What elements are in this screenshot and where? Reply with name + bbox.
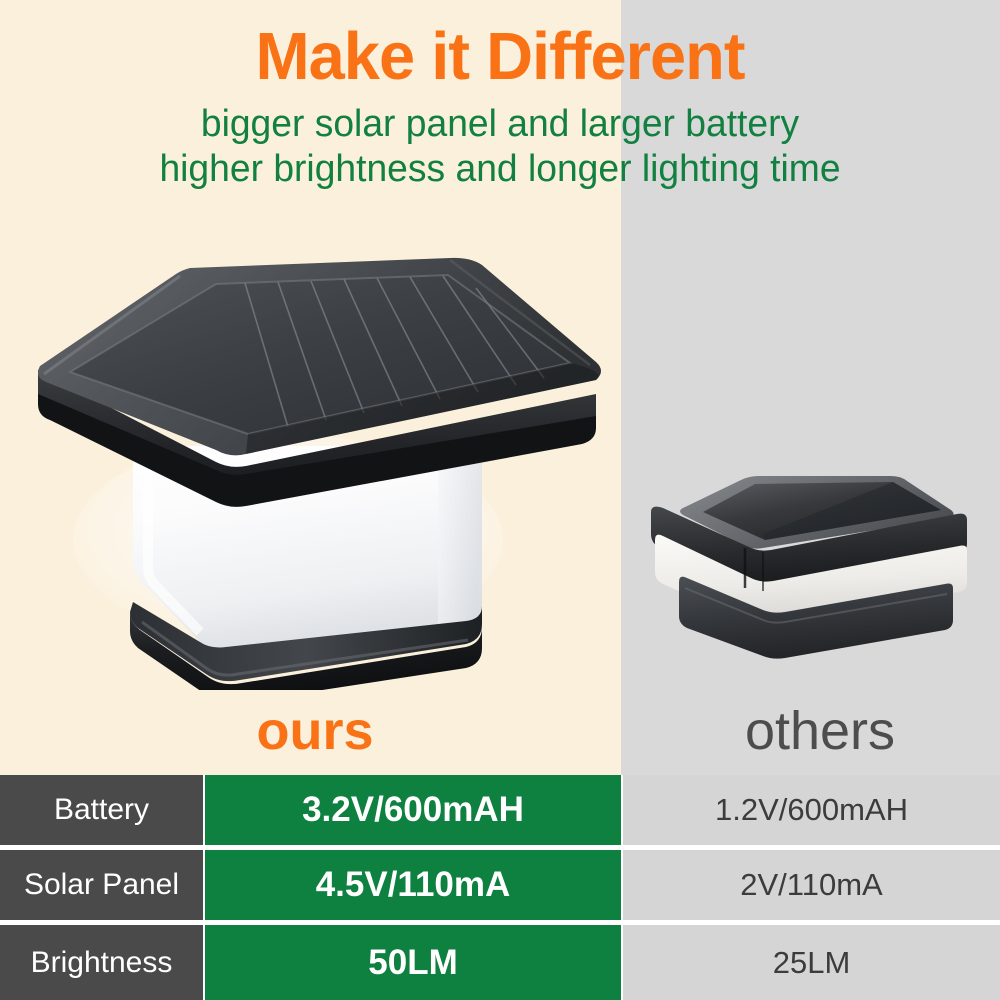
table-row: Solar Panel 4.5V/110mA 2V/110mA — [0, 850, 1000, 925]
spec-ours-brightness: 50LM — [205, 925, 623, 1000]
spec-label-brightness: Brightness — [0, 925, 205, 1000]
page-title: Make it Different — [15, 0, 985, 90]
table-row: Brightness 50LM 25LM — [0, 925, 1000, 1000]
spec-comparison-table: Battery 3.2V/600mAH 1.2V/600mAH Solar Pa… — [0, 775, 1000, 1000]
subtitle-line-2: higher brightness and longer lighting ti… — [10, 147, 990, 192]
others-label: others — [700, 690, 940, 772]
spec-label-battery: Battery — [0, 775, 205, 845]
spec-others-solar-panel: 2V/110mA — [623, 850, 1000, 920]
ours-label: ours — [205, 690, 425, 772]
product-stage — [0, 210, 1000, 690]
others-product-image — [645, 460, 975, 665]
headline-block: Make it Different bigger solar panel and… — [0, 0, 1000, 210]
brand-labels-row: ours others — [0, 690, 1000, 775]
ours-product-image — [30, 250, 610, 690]
table-row: Battery 3.2V/600mAH 1.2V/600mAH — [0, 775, 1000, 850]
infographic-page: Make it Different bigger solar panel and… — [0, 0, 1000, 1000]
page-subtitle: bigger solar panel and larger battery hi… — [10, 102, 990, 192]
spec-others-brightness: 25LM — [623, 925, 1000, 1000]
spec-ours-battery: 3.2V/600mAH — [205, 775, 623, 845]
spec-others-battery: 1.2V/600mAH — [623, 775, 1000, 845]
spec-ours-solar-panel: 4.5V/110mA — [205, 850, 623, 920]
spec-label-solar-panel: Solar Panel — [0, 850, 205, 920]
subtitle-line-1: bigger solar panel and larger battery — [10, 102, 990, 147]
